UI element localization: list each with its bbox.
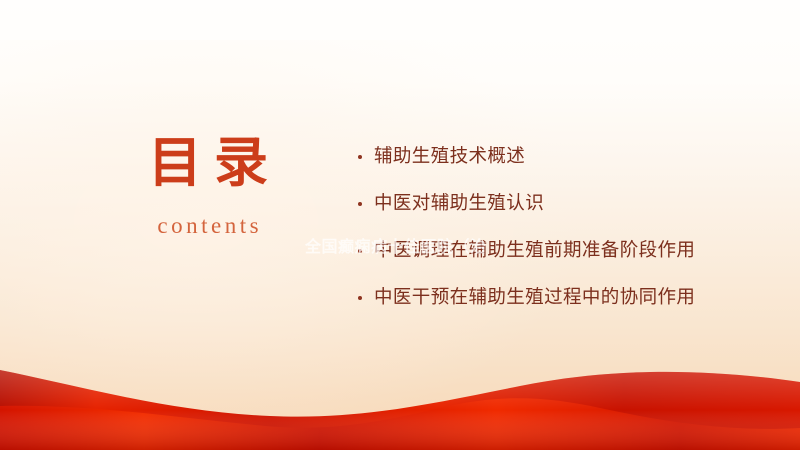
bullet-dot-icon	[358, 296, 362, 300]
ribbon-wave-graphic	[0, 360, 800, 450]
bullet-dot-icon	[358, 249, 362, 253]
title-block: 目录 contents	[86, 132, 330, 240]
page-title: 目录	[86, 132, 330, 194]
list-item[interactable]: 中医干预在辅助生殖过程中的协同作用	[356, 281, 716, 315]
list-item[interactable]: 中医对辅助生殖认识	[356, 187, 716, 221]
table-of-contents-list: 辅助生殖技术概述 中医对辅助生殖认识 中医调理在辅助生殖前期准备阶段作用 中医干…	[356, 140, 716, 315]
list-item-label: 中医干预在辅助生殖过程中的协同作用	[374, 288, 695, 308]
bottom-ribbon-decoration	[0, 360, 800, 450]
bullet-dot-icon	[358, 202, 362, 206]
list-item-label: 辅助生殖技术概述	[374, 147, 525, 167]
page-subtitle: contents	[86, 212, 330, 240]
list-item[interactable]: 辅助生殖技术概述	[356, 140, 716, 174]
list-item-label: 中医对辅助生殖认识	[374, 194, 544, 214]
bullet-dot-icon	[358, 155, 362, 159]
list-item[interactable]: 中医调理在辅助生殖前期准备阶段作用	[356, 234, 716, 268]
list-item-label: 中医调理在辅助生殖前期准备阶段作用	[374, 241, 695, 261]
slide-canvas: 目录 contents 辅助生殖技术概述 中医对辅助生殖认识 中医调理在辅助生殖…	[0, 0, 800, 450]
